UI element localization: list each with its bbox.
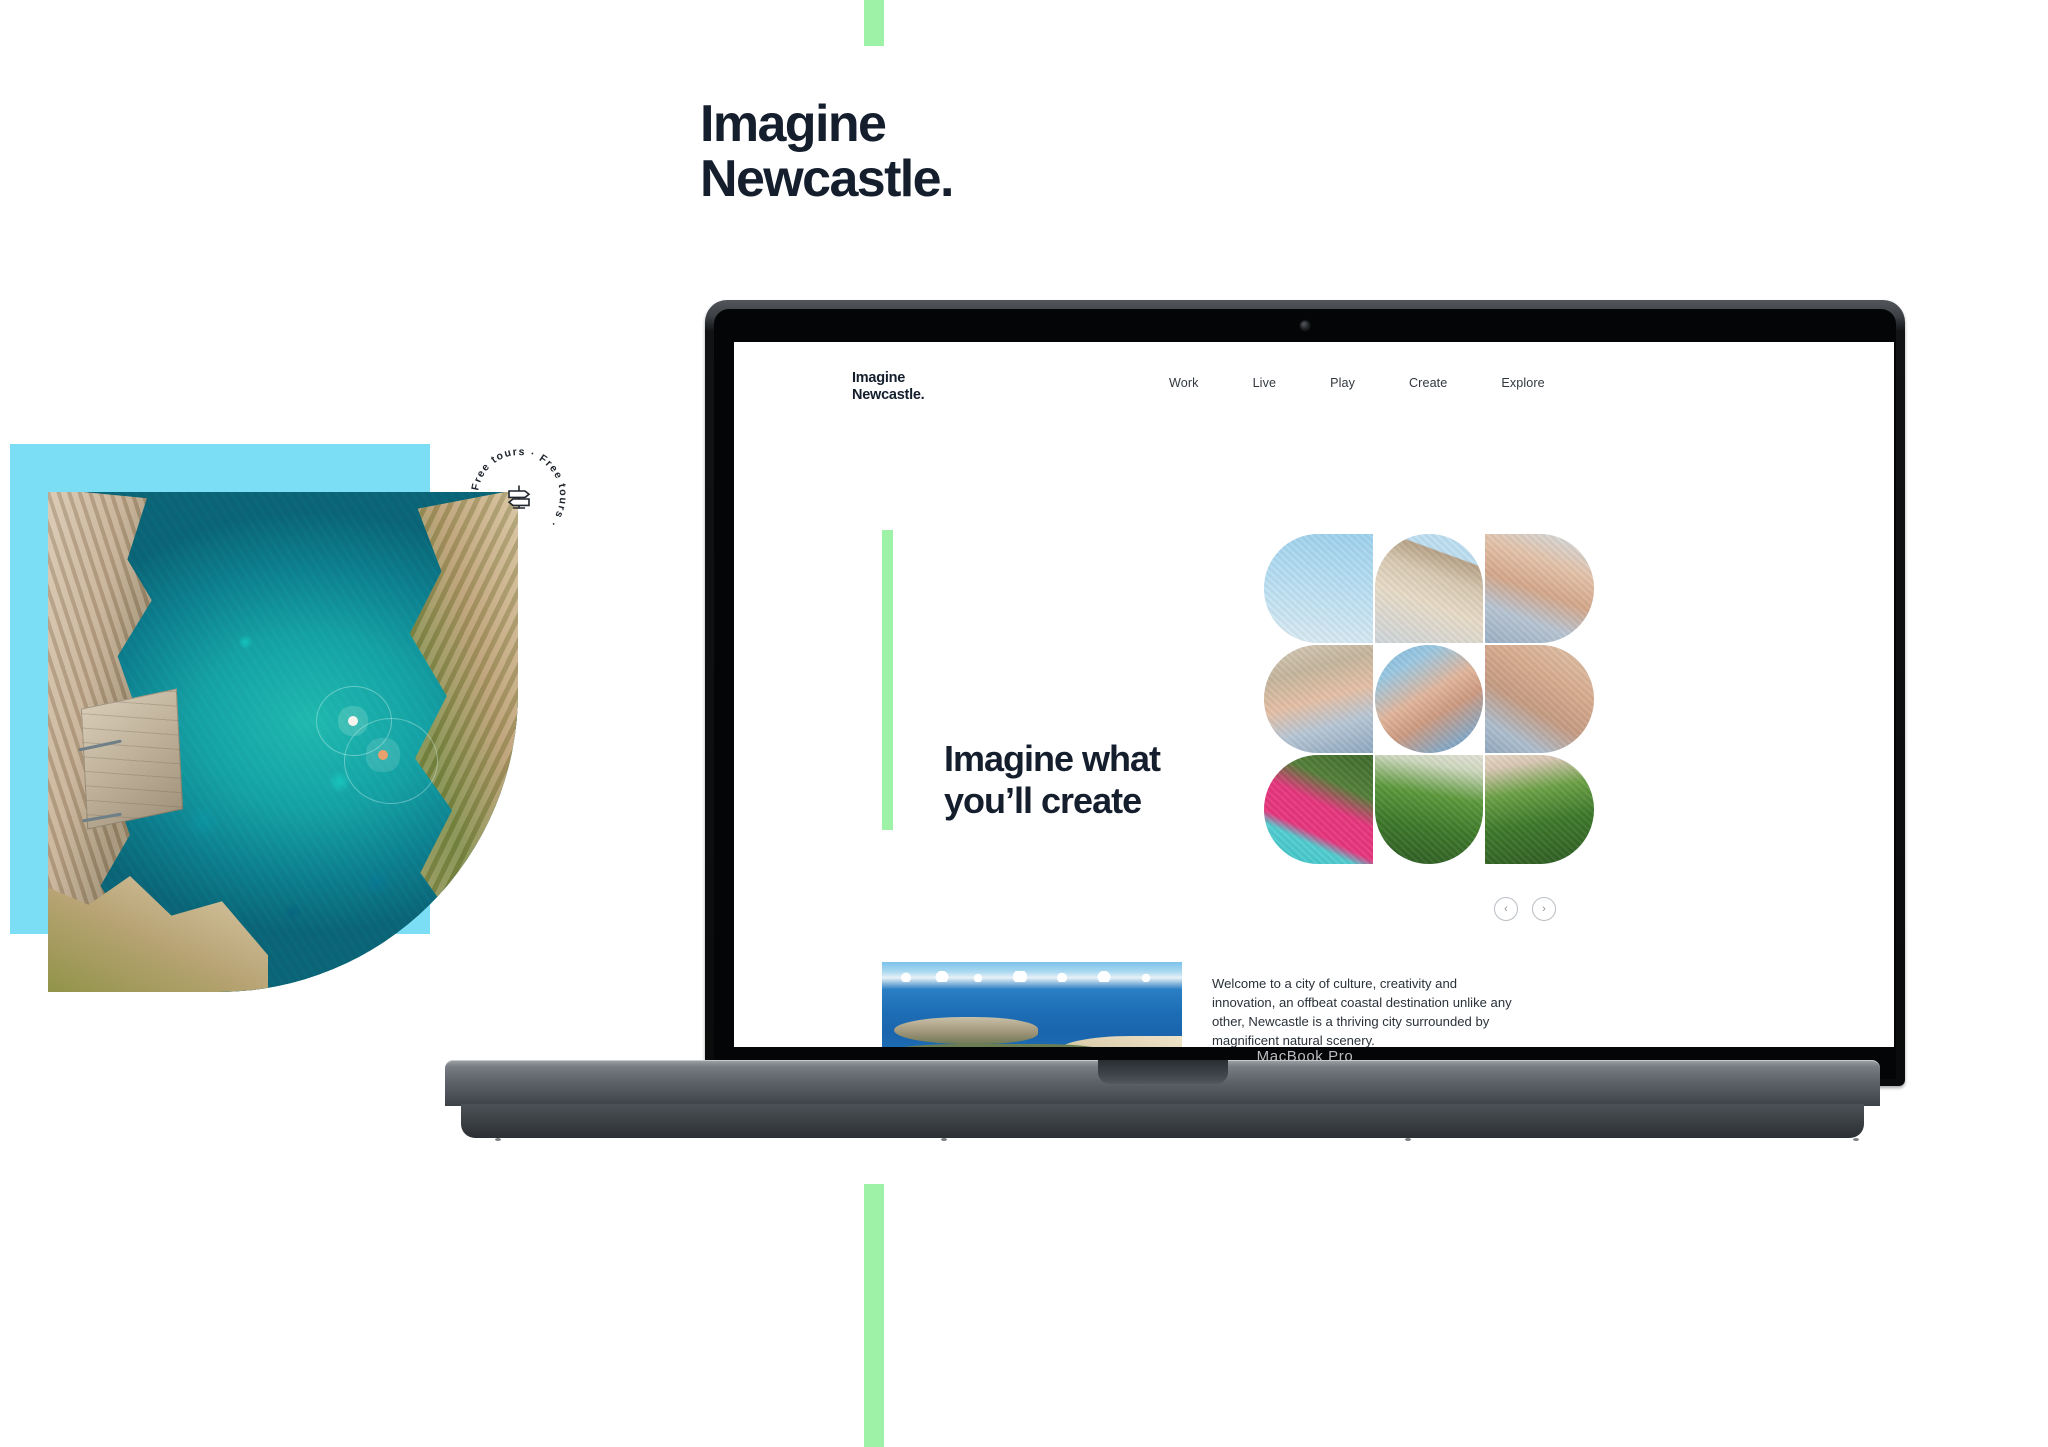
laptop-foot-4 — [1853, 1138, 1859, 1141]
laptop-base-top — [445, 1060, 1880, 1106]
harbour-clouds — [882, 971, 1182, 982]
site-navbar: Imagine Newcastle. Work Live Play Create… — [734, 370, 1894, 430]
page-title: Imagine Newcastle. — [700, 97, 953, 208]
hero-title-line-2: you’ll create — [944, 780, 1160, 822]
nav-item-explore[interactable]: Explore — [1501, 376, 1544, 390]
signpost-icon — [509, 486, 529, 508]
site-logo-line-2: Newcastle. — [852, 387, 924, 404]
newcastle-harbour-photo — [882, 962, 1182, 1047]
laptop-base-bottom — [461, 1104, 1864, 1138]
swimmer-1 — [348, 716, 358, 726]
hero-title: Imagine what you’ll create — [944, 738, 1160, 822]
collage-tile-hedge-centre — [1375, 755, 1484, 864]
carousel-next-button[interactable]: › — [1532, 897, 1556, 921]
intro-section: Welcome to a city of culture, creativity… — [882, 962, 1894, 1047]
site-logo[interactable]: Imagine Newcastle. — [852, 370, 924, 405]
laptop-foot-1 — [495, 1138, 501, 1141]
primary-nav: Work Live Play Create Explore — [1169, 376, 1545, 390]
laptop-foot-3 — [1405, 1138, 1411, 1141]
webcam-icon — [1301, 321, 1310, 330]
carousel-controls: ‹ › — [1494, 897, 1556, 921]
pool-deck — [81, 688, 183, 829]
laptop-base-notch — [1098, 1060, 1228, 1084]
laptop-lid: MacBook Pro Imagine Newcastle. — [705, 300, 1905, 1090]
collage-tile-mural-wall-top — [1375, 534, 1484, 643]
ocean-pool-photo — [48, 492, 518, 992]
carousel-prev-button[interactable]: ‹ — [1494, 897, 1518, 921]
hero-image-collage[interactable] — [1264, 534, 1594, 864]
ocean-pool-artwork — [48, 492, 518, 992]
nav-item-work[interactable]: Work — [1169, 376, 1199, 390]
page-title-line-2: Newcastle. — [700, 152, 953, 208]
hero-green-accent-bar — [882, 530, 893, 830]
harbour-headland — [894, 1017, 1038, 1044]
nav-item-live[interactable]: Live — [1253, 376, 1277, 390]
nav-item-create[interactable]: Create — [1409, 376, 1447, 390]
water-ripple-2 — [344, 718, 438, 804]
mockup-canvas: Imagine Newcastle. — [0, 0, 2048, 1447]
laptop-foot-2 — [941, 1138, 947, 1141]
macbook-pro-mockup: MacBook Pro Imagine Newcastle. — [560, 300, 1760, 1090]
laptop-shell: MacBook Pro Imagine Newcastle. — [705, 300, 1905, 1086]
collage-tile-mural-figure-right — [1485, 645, 1594, 754]
site-logo-line-1: Imagine — [852, 370, 924, 387]
collage-tile-mural-centre — [1375, 645, 1484, 754]
laptop-screen: Imagine Newcastle. Work Live Play Create… — [734, 342, 1894, 1047]
nav-item-play[interactable]: Play — [1330, 376, 1355, 390]
laptop-base — [445, 1060, 1880, 1150]
collage-tile-hedge-right — [1485, 755, 1594, 864]
swimmer-2 — [378, 750, 388, 760]
collage-tile-woman-pink-skirt — [1264, 755, 1373, 864]
laptop-bezel: MacBook Pro Imagine Newcastle. — [714, 309, 1896, 1079]
page-title-line-1: Imagine — [700, 95, 885, 153]
hero-title-line-1: Imagine what — [944, 738, 1160, 780]
collage-tile-mural-wall-left — [1264, 645, 1373, 754]
website-viewport: Imagine Newcastle. Work Live Play Create… — [734, 342, 1894, 1047]
collage-tile-blue-sky — [1264, 534, 1373, 643]
intro-paragraph: Welcome to a city of culture, creativity… — [1212, 975, 1512, 1047]
collage-tile-mural-fence — [1485, 534, 1594, 643]
free-tours-badge-large[interactable]: Free tours · Free tours · — [465, 442, 573, 550]
